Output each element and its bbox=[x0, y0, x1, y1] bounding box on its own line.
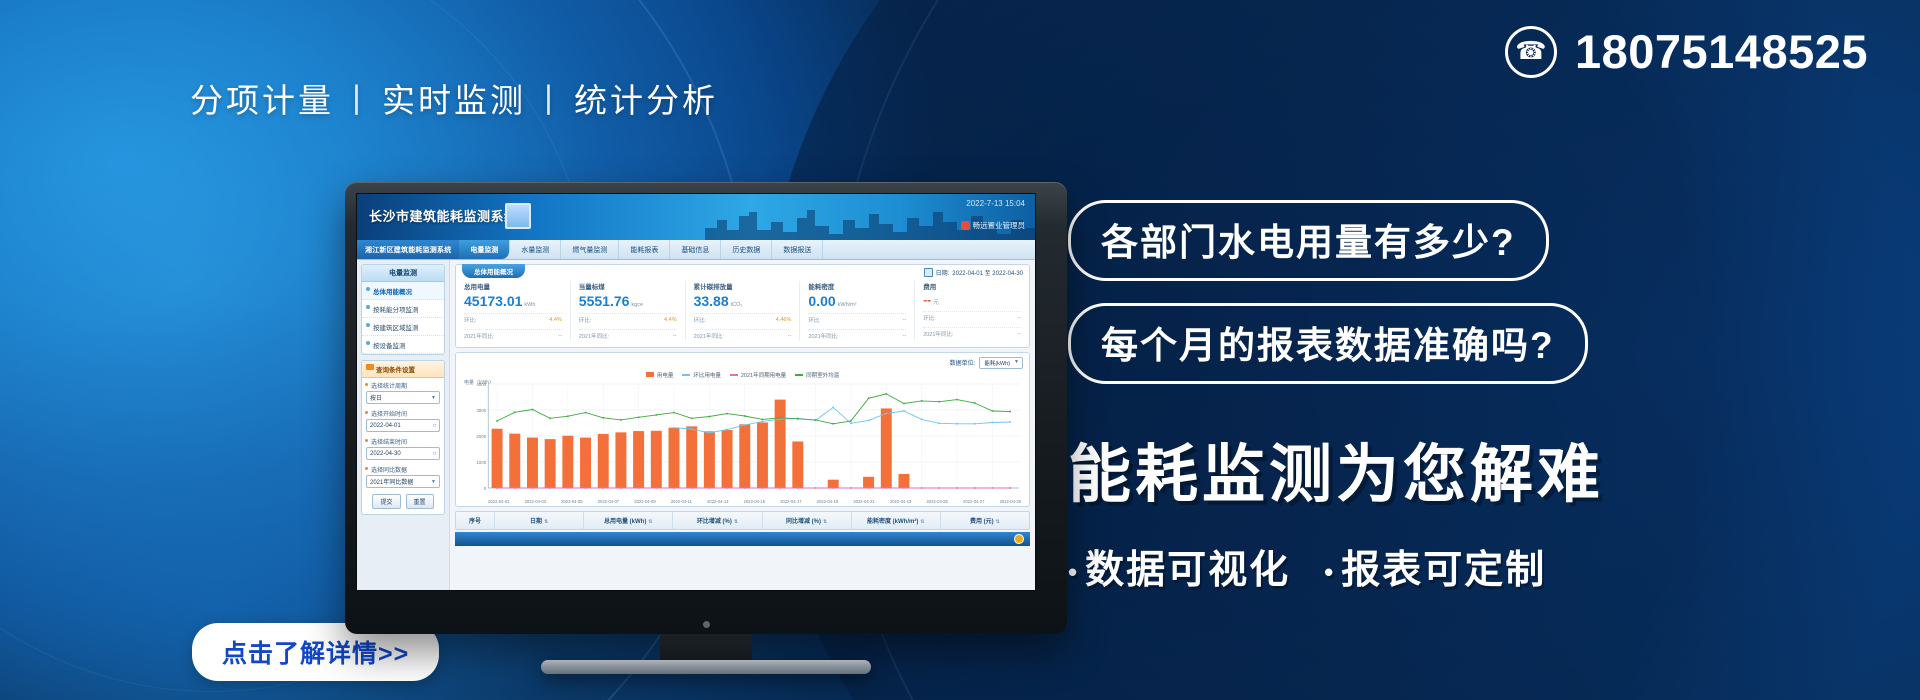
kpi-compare-value: 4.46% bbox=[776, 317, 792, 323]
kpi-value: 5551.76kgce bbox=[579, 294, 677, 309]
sidebar-filter-card: 查询条件设置 选择统计周期 按日 ▼ 选择开始时间 2022-04-01 □ bbox=[361, 360, 445, 515]
svg-text:0: 0 bbox=[484, 486, 487, 491]
filter-value-start: 2022-04-01 bbox=[370, 423, 401, 429]
table-col-yoy[interactable]: 同比增减 (%)⇅ bbox=[763, 512, 852, 529]
kpi-label: 累计碳排放量 bbox=[694, 281, 792, 291]
table-col-date[interactable]: 日期⇅ bbox=[495, 512, 584, 529]
kpi-compare-label: 环比: bbox=[808, 316, 821, 324]
legend-item-yoy[interactable]: 2021年同期用电量 bbox=[730, 371, 786, 379]
sort-icon: ⇅ bbox=[734, 519, 738, 525]
kpi-unit: tCO₂ bbox=[731, 302, 743, 308]
monitor-screen: 长沙市建筑能耗监测系统 2022-7-13 15:04 畅远置业管理员 湘江新区… bbox=[356, 193, 1036, 591]
unit-label: 数据单位: bbox=[950, 358, 976, 367]
kpi-value: 0.00kWh/m² bbox=[808, 294, 906, 309]
kpi-compare-label: 环比: bbox=[694, 316, 707, 324]
kpi-card-cost: 费用 --元 环比:-- 2021年同比:-- bbox=[915, 281, 1029, 341]
kpi-compare-value: -- bbox=[903, 317, 907, 323]
subhead-separator-2: 丨 bbox=[532, 82, 568, 119]
tab-data-submit[interactable]: 数据报送 bbox=[772, 240, 823, 259]
app-user-badge[interactable]: 畅远置业管理员 bbox=[961, 220, 1026, 231]
kpi-compare-value: 4.4% bbox=[664, 317, 677, 323]
app-logo-icon bbox=[505, 203, 531, 229]
monitor-stand-neck bbox=[660, 634, 752, 660]
kpi-value: 33.88tCO₂ bbox=[694, 294, 792, 309]
contact-phone[interactable]: ☎ 18075148525 bbox=[1505, 24, 1868, 79]
banner-subheadline: 分项计量丨实时监测丨统计分析 bbox=[190, 74, 718, 122]
kpi-yoy-value: -- bbox=[558, 333, 562, 339]
kpi-compare-row: 环比:4.46% bbox=[694, 313, 792, 325]
legend-item-mom[interactable]: 环比用电量 bbox=[682, 371, 721, 379]
chart-plot-area: 电量（kWh） 01000200030004000 bbox=[462, 380, 1023, 498]
filter-label-start: 选择开始时间 bbox=[362, 406, 444, 419]
filter-value-end: 2022-04-30 bbox=[370, 451, 401, 457]
tab-gas[interactable]: 燃气量监测 bbox=[561, 240, 619, 259]
calendar-icon bbox=[924, 268, 933, 277]
chart-unit-control: 数据单位: 能耗(kWh) ▼ bbox=[462, 357, 1023, 369]
tab-brand: 湘江新区建筑能耗监测系统 bbox=[357, 240, 459, 259]
phone-number: 18075148525 bbox=[1575, 24, 1868, 79]
kpi-unit: kgce bbox=[631, 302, 643, 308]
legend-label-temp: 同期室外均温 bbox=[806, 371, 839, 379]
legend-label-bar: 用电量 bbox=[657, 371, 674, 379]
kpi-panel: 总体用能概况 日期: 2022-04-01 至 2022-04-30 总用电量 … bbox=[455, 264, 1030, 348]
data-table-header: 序号 日期⇅ 总用电量 (kWh)⇅ 环比增减 (%)⇅ 同比增减 (%)⇅ 能… bbox=[455, 511, 1030, 530]
kpi-yoy-row: 2021年同比:-- bbox=[808, 329, 906, 341]
date-range-value: 2022-04-01 至 2022-04-30 bbox=[952, 268, 1023, 277]
filter-label-yoy: 选择同比数据 bbox=[362, 462, 444, 475]
chart-x-tick: 2022-04-07 bbox=[598, 499, 619, 504]
table-col-cost[interactable]: 费用 (元)⇅ bbox=[941, 512, 1029, 529]
chart-x-tick: 2022-04-21 bbox=[853, 499, 874, 504]
kpi-yoy-label: 2021年同比: bbox=[694, 332, 724, 340]
sidebar-item-overview[interactable]: 总体用能概况 bbox=[362, 282, 444, 300]
promo-banner: ☎ 18075148525 分项计量丨实时监测丨统计分析 点击了解详情>> 各部… bbox=[0, 0, 1920, 700]
app-header: 长沙市建筑能耗监测系统 2022-7-13 15:04 畅远置业管理员 bbox=[357, 194, 1035, 240]
subhead-separator-1: 丨 bbox=[340, 82, 376, 119]
kpi-card-density: 能耗密度 0.00kWh/m² 环比:-- 2021年同比:-- bbox=[800, 281, 915, 341]
table-col-mom[interactable]: 环比增减 (%)⇅ bbox=[673, 512, 762, 529]
kpi-compare-row: 环比:-- bbox=[923, 311, 1021, 323]
kpi-unit: 元 bbox=[933, 300, 939, 306]
sort-icon: ⇅ bbox=[648, 519, 652, 525]
kpi-value: --元 bbox=[923, 294, 1021, 307]
app-tabbar: 湘江新区建筑能耗监测系统 电量监测 水量监测 燃气量监测 能耗报表 基础信息 历… bbox=[357, 240, 1035, 260]
kpi-card-carbon: 累计碳排放量 33.88tCO₂ 环比:4.46% 2021年同比:-- bbox=[686, 281, 801, 341]
kpi-number: -- bbox=[923, 293, 931, 307]
tab-history[interactable]: 历史数据 bbox=[721, 240, 772, 259]
panel-tab-label: 总体用能概况 bbox=[462, 264, 525, 278]
kpi-value: 45173.01kWh bbox=[464, 294, 562, 309]
kpi-number: 45173.01 bbox=[464, 293, 522, 309]
legend-label-mom: 环比用电量 bbox=[693, 371, 721, 379]
filter-select-period[interactable]: 按日 ▼ bbox=[366, 391, 440, 404]
status-indicator-icon bbox=[1014, 534, 1024, 544]
legend-item-temp[interactable]: 同期室外均温 bbox=[795, 371, 839, 379]
kpi-compare-value: -- bbox=[1017, 315, 1021, 321]
chevron-down-icon: ▼ bbox=[431, 395, 436, 401]
reset-button[interactable]: 重置 bbox=[406, 494, 434, 509]
table-col-index: 序号 bbox=[456, 512, 495, 529]
unit-value: 能耗(kWh) bbox=[984, 361, 1010, 367]
avatar bbox=[961, 221, 970, 230]
chevron-down-icon: ▼ bbox=[1014, 359, 1019, 365]
kpi-yoy-value: -- bbox=[673, 333, 677, 339]
bullet-marker-2: • bbox=[1324, 557, 1335, 587]
kpi-compare-label: 环比: bbox=[923, 314, 936, 322]
tab-reports[interactable]: 能耗报表 bbox=[619, 240, 670, 259]
kpi-number: 0.00 bbox=[808, 293, 835, 309]
kpi-compare-row: 环比:-- bbox=[808, 313, 906, 325]
filter-select-yoy[interactable]: 2021年同比数据 ▼ bbox=[366, 475, 440, 488]
sidebar-item-device[interactable]: 按设备监测 bbox=[362, 336, 444, 354]
panel-date-range[interactable]: 日期: 2022-04-01 至 2022-04-30 bbox=[924, 268, 1023, 277]
filter-label-end: 选择结束时间 bbox=[362, 434, 444, 447]
monitor-stand-base bbox=[541, 660, 871, 674]
kpi-label: 费用 bbox=[923, 281, 1021, 291]
legend-item-bar[interactable]: 用电量 bbox=[646, 371, 674, 379]
filter-input-start-date[interactable]: 2022-04-01 □ bbox=[366, 419, 440, 432]
chart-y-axis-title: 电量（kWh） bbox=[464, 379, 494, 386]
chart-x-tick: 2022-04-15 bbox=[744, 499, 765, 504]
sort-icon: ⇅ bbox=[823, 519, 827, 525]
kpi-yoy-value: -- bbox=[788, 333, 792, 339]
marketing-pill-2: 每个月的报表数据准确吗? bbox=[1068, 303, 1588, 384]
calendar-icon: □ bbox=[433, 423, 436, 429]
marketing-bullets: •数据可视化•报表可定制 bbox=[1068, 539, 1878, 595]
marketing-pill-1: 各部门水电用量有多少? bbox=[1068, 200, 1549, 281]
subhead-part-3: 统计分析 bbox=[574, 82, 718, 119]
chart-x-tick: 2022-04-27 bbox=[963, 499, 984, 504]
legend-swatch-mom bbox=[682, 374, 690, 376]
kpi-compare-label: 环比: bbox=[579, 316, 592, 324]
kpi-yoy-row: 2021年同比:-- bbox=[579, 329, 677, 341]
marketing-headline: 能耗监测为您解难 bbox=[1068, 424, 1878, 515]
sort-icon: ⇅ bbox=[544, 519, 548, 525]
chart-x-tick: 2022-04-01 bbox=[488, 499, 509, 504]
app-statusbar bbox=[455, 532, 1030, 546]
kpi-card-total-electricity: 总用电量 45173.01kWh 环比:4.4% 2021年同比:-- bbox=[456, 281, 571, 341]
submit-button[interactable]: 提交 bbox=[372, 494, 400, 509]
chart-svg: 01000200030004000 bbox=[462, 380, 1023, 498]
chart-panel: 数据单位: 能耗(kWh) ▼ 用电量 环比用电量 2021年同期用电量 bbox=[455, 352, 1030, 507]
sidebar-nav-card: 电量监测 总体用能概况 按耗能分项监测 按建筑区域监测 按设备监测 bbox=[361, 264, 445, 355]
kpi-label: 当量标煤 bbox=[579, 281, 677, 291]
kpi-compare-row: 环比:4.4% bbox=[464, 313, 562, 325]
filter-input-end-date[interactable]: 2022-04-30 □ bbox=[366, 447, 440, 460]
legend-swatch-temp bbox=[795, 374, 803, 376]
filter-value-period: 按日 bbox=[370, 393, 382, 402]
chart-x-tick: 2022-04-03 bbox=[525, 499, 546, 504]
app-sidebar: 电量监测 总体用能概况 按耗能分项监测 按建筑区域监测 按设备监测 查询条件设置… bbox=[357, 260, 450, 591]
bullet-marker-1: • bbox=[1068, 557, 1079, 587]
svg-text:1000: 1000 bbox=[476, 460, 486, 465]
kpi-yoy-row: 2021年同比:-- bbox=[923, 327, 1021, 339]
app-title: 长沙市建筑能耗监测系统 bbox=[369, 206, 518, 225]
app-body: 电量监测 总体用能概况 按耗能分项监测 按建筑区域监测 按设备监测 查询条件设置… bbox=[357, 260, 1035, 591]
svg-text:3000: 3000 bbox=[476, 408, 486, 413]
kpi-number: 33.88 bbox=[694, 293, 729, 309]
chart-x-axis-labels: 2022-04-012022-04-032022-04-052022-04-07… bbox=[462, 498, 1023, 504]
monitor-mockup: 长沙市建筑能耗监测系统 2022-7-13 15:04 畅远置业管理员 湘江新区… bbox=[345, 182, 1067, 674]
app-clock: 2022-7-13 15:04 bbox=[966, 199, 1025, 208]
kpi-yoy-row: 2021年同比:-- bbox=[464, 329, 562, 341]
kpi-yoy-label: 2021年同比: bbox=[923, 330, 953, 338]
kpi-compare-label: 环比: bbox=[464, 316, 477, 324]
chart-x-tick: 2022-04-25 bbox=[926, 499, 947, 504]
filter-actions: 提交 重置 bbox=[362, 490, 444, 514]
legend-swatch-yoy bbox=[730, 374, 738, 376]
phone-icon: ☎ bbox=[1505, 26, 1557, 78]
marketing-column: 各部门水电用量有多少? 每个月的报表数据准确吗? 能耗监测为您解难 •数据可视化… bbox=[1068, 200, 1878, 595]
kpi-compare-value: 4.4% bbox=[549, 317, 562, 323]
app-user-name: 畅远置业管理员 bbox=[973, 220, 1026, 231]
kpi-yoy-label: 2021年同比: bbox=[808, 332, 838, 340]
kpi-yoy-value: -- bbox=[903, 333, 907, 339]
kpi-yoy-value: -- bbox=[1017, 331, 1021, 337]
chart-x-tick: 2022-04-11 bbox=[671, 499, 692, 504]
subhead-part-1: 分项计量 bbox=[190, 82, 334, 119]
chart-x-tick: 2022-04-13 bbox=[707, 499, 728, 504]
chart-x-tick: 2022-04-19 bbox=[817, 499, 838, 504]
sort-icon: ⇅ bbox=[920, 519, 924, 525]
filter-label-period: 选择统计周期 bbox=[362, 378, 444, 391]
unit-select[interactable]: 能耗(kWh) ▼ bbox=[979, 357, 1023, 369]
chart-x-tick: 2022-04-09 bbox=[634, 499, 655, 504]
sort-icon: ⇅ bbox=[996, 519, 1000, 525]
legend-label-yoy: 2021年同期用电量 bbox=[741, 371, 786, 379]
app-content: 总体用能概况 日期: 2022-04-01 至 2022-04-30 总用电量 … bbox=[450, 260, 1035, 591]
subhead-part-2: 实时监测 bbox=[382, 82, 526, 119]
tab-basic-info[interactable]: 基础信息 bbox=[670, 240, 721, 259]
sidebar-item-subitem[interactable]: 按耗能分项监测 bbox=[362, 300, 444, 318]
chart-x-tick: 2022-04-29 bbox=[1000, 499, 1021, 504]
sidebar-item-area[interactable]: 按建筑区域监测 bbox=[362, 318, 444, 336]
chart-x-tick: 2022-04-23 bbox=[890, 499, 911, 504]
kpi-card-standard-coal: 当量标煤 5551.76kgce 环比:4.4% 2021年同比:-- bbox=[571, 281, 686, 341]
kpi-unit: kWh bbox=[524, 302, 535, 308]
chart-legend: 用电量 环比用电量 2021年同期用电量 同期室外均温 bbox=[462, 371, 1023, 379]
sidebar-header: 电量监测 bbox=[362, 265, 444, 282]
kpi-label: 能耗密度 bbox=[808, 281, 906, 291]
table-col-density[interactable]: 能耗密度 (kWh/m²)⇅ bbox=[852, 512, 941, 529]
filter-value-yoy: 2021年同比数据 bbox=[370, 477, 413, 486]
kpi-compare-row: 环比:4.4% bbox=[579, 313, 677, 325]
calendar-icon: □ bbox=[433, 451, 436, 457]
kpi-unit: kWh/m² bbox=[838, 302, 857, 308]
filter-header: 查询条件设置 bbox=[362, 361, 444, 378]
legend-swatch-bar bbox=[646, 372, 654, 377]
kpi-yoy-label: 2021年同比: bbox=[579, 332, 609, 340]
tab-water[interactable]: 水量监测 bbox=[510, 240, 561, 259]
kpi-label: 总用电量 bbox=[464, 281, 562, 291]
monitor-bezel: 长沙市建筑能耗监测系统 2022-7-13 15:04 畅远置业管理员 湘江新区… bbox=[345, 182, 1067, 634]
bullet-label-1: 数据可视化 bbox=[1085, 549, 1290, 592]
chart-x-tick: 2022-04-17 bbox=[780, 499, 801, 504]
tab-electricity[interactable]: 电量监测 bbox=[459, 240, 510, 259]
bullet-label-2: 报表可定制 bbox=[1341, 549, 1546, 592]
kpi-yoy-row: 2021年同比:-- bbox=[694, 329, 792, 341]
chevron-down-icon: ▼ bbox=[431, 479, 436, 485]
table-col-total[interactable]: 总用电量 (kWh)⇅ bbox=[584, 512, 673, 529]
kpi-list: 总用电量 45173.01kWh 环比:4.4% 2021年同比:-- 当量标煤… bbox=[456, 265, 1029, 347]
kpi-number: 5551.76 bbox=[579, 293, 630, 309]
svg-text:2000: 2000 bbox=[476, 434, 486, 439]
chart-x-tick: 2022-04-05 bbox=[561, 499, 582, 504]
date-label: 日期: bbox=[936, 268, 950, 277]
kpi-yoy-label: 2021年同比: bbox=[464, 332, 494, 340]
